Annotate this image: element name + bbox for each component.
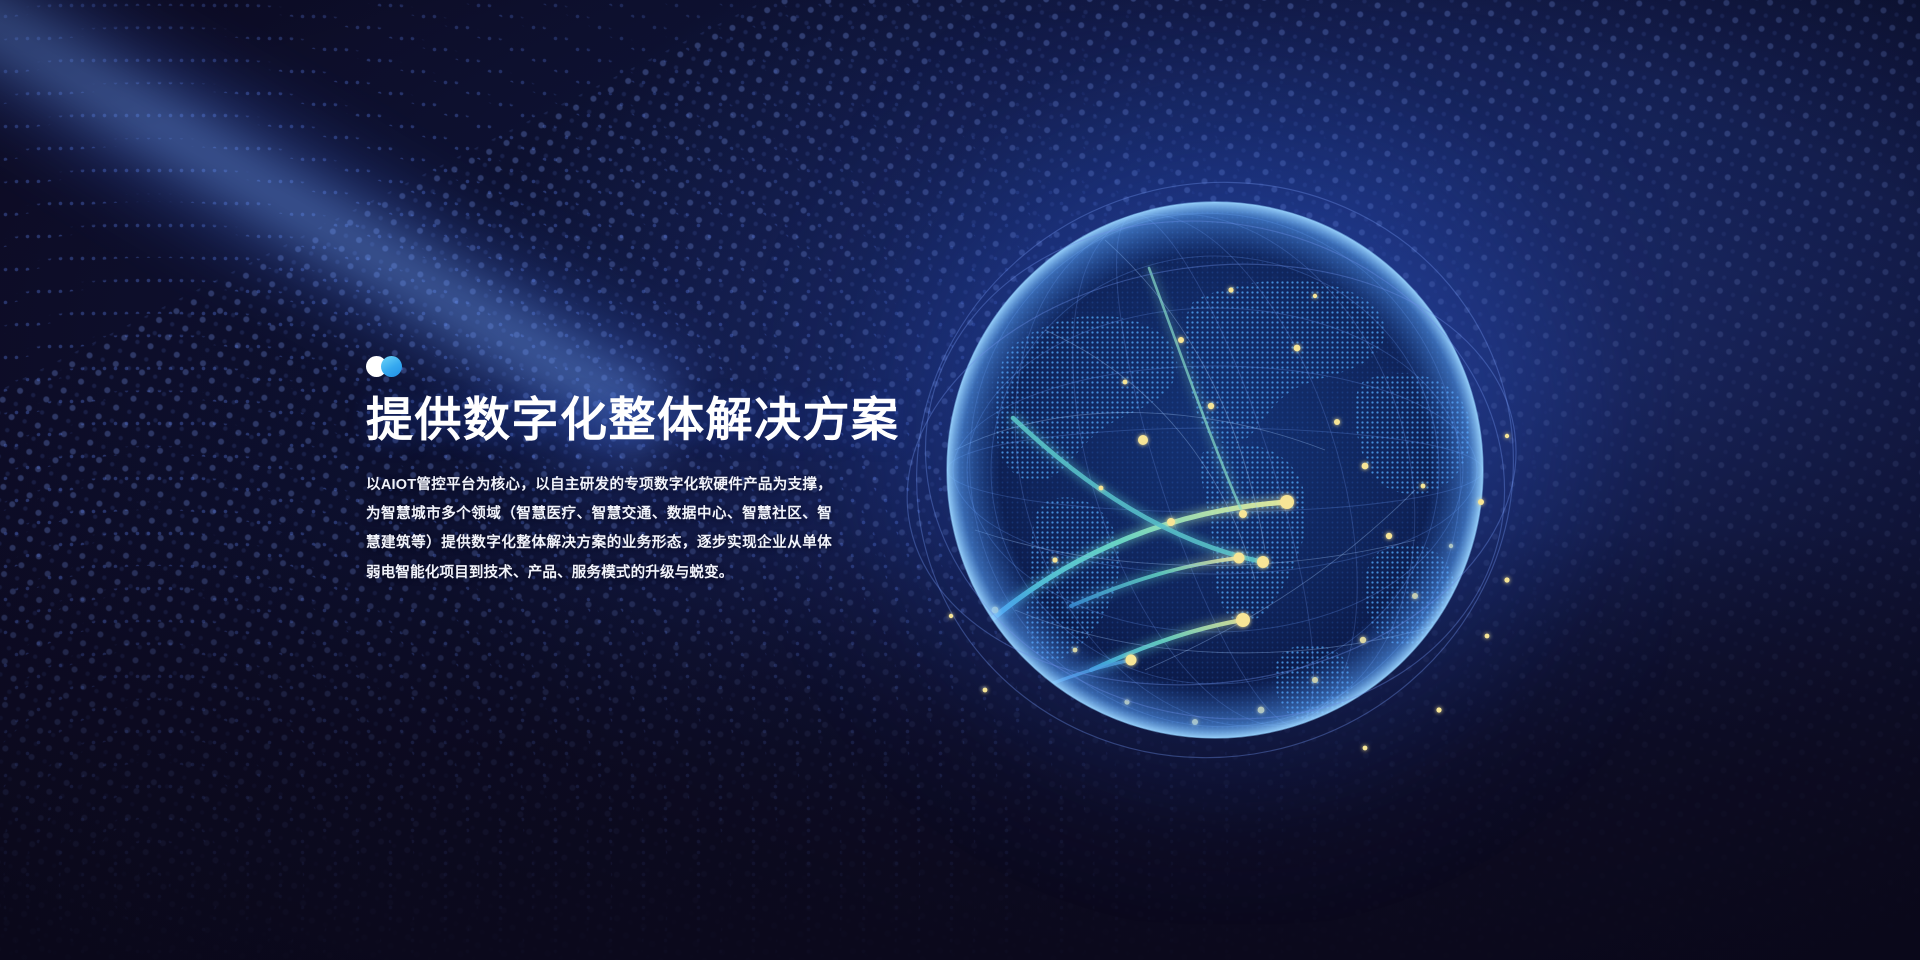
globe-illustration: [895, 150, 1535, 790]
hero-banner: 提供数字化整体解决方案 以AIOT管控平台为核心，以自主研发的专项数字化软硬件产…: [0, 0, 1920, 960]
accent-dot-pair: [366, 356, 426, 378]
globe-svg: [895, 150, 1535, 790]
hero-content: 提供数字化整体解决方案 以AIOT管控平台为核心，以自主研发的专项数字化软硬件产…: [366, 356, 786, 588]
hero-description: 以AIOT管控平台为核心，以自主研发的专项数字化软硬件产品为支撑，为智慧城市多个…: [366, 471, 832, 589]
light-streak-bottom-right: [895, 943, 1920, 960]
blue-dot-icon: [381, 356, 402, 377]
page-title: 提供数字化整体解决方案: [366, 394, 786, 447]
